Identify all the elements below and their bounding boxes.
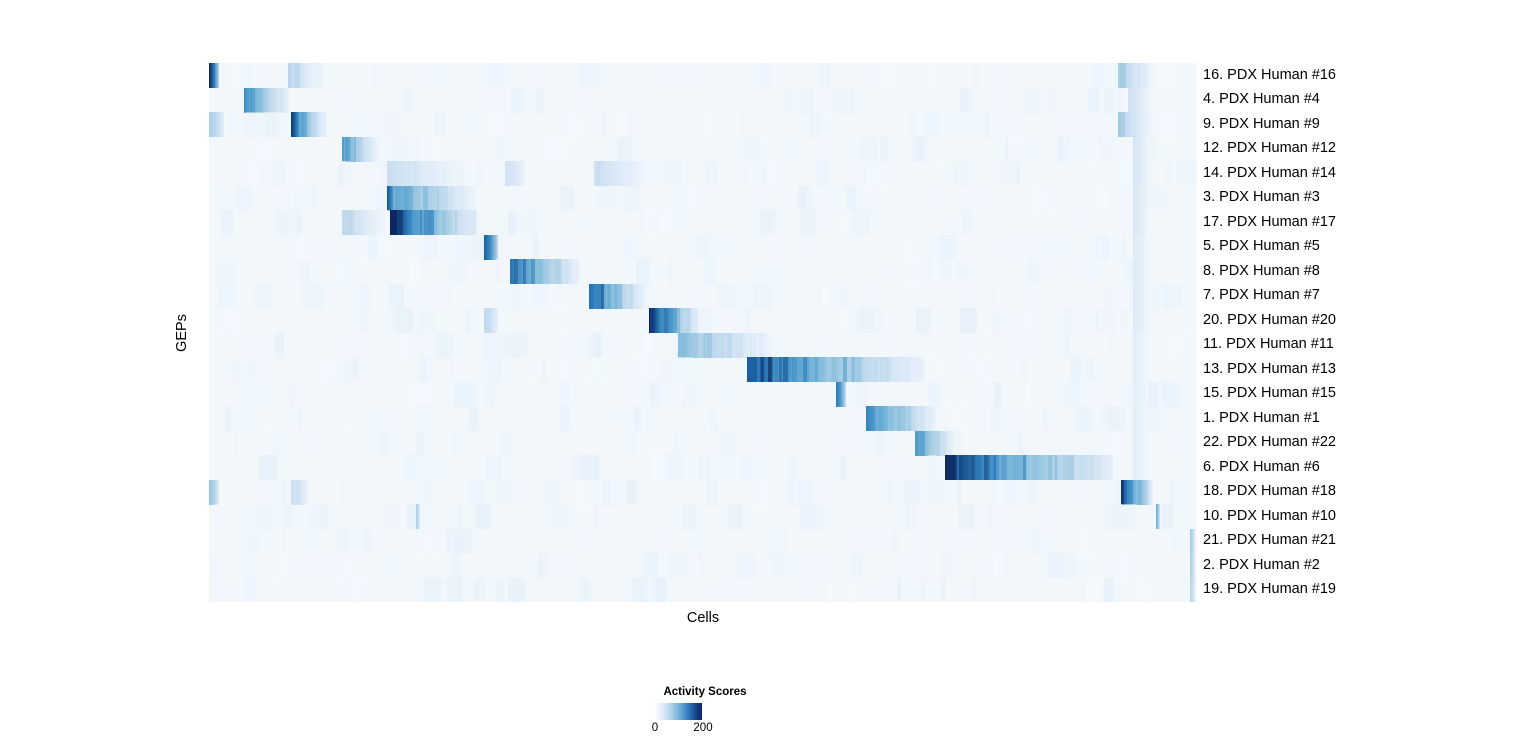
heatmap-row-label: 13. PDX Human #13 (1203, 362, 1336, 377)
heatmap-activity-block (1133, 137, 1148, 162)
heatmap-row-label: 8. PDX Human #8 (1203, 264, 1320, 279)
heatmap-column-noise (1033, 259, 1048, 284)
heatmap-column-noise (482, 357, 498, 382)
heatmap-column-noise (1026, 284, 1036, 309)
heatmap-column-noise (813, 88, 822, 113)
heatmap-column-noise (560, 186, 575, 211)
heatmap-column-noise (979, 553, 983, 578)
heatmap-activity-block (1133, 431, 1148, 456)
heatmap-column-noise (889, 455, 897, 480)
heatmap-column-noise (325, 553, 336, 578)
heatmap-column-noise (464, 382, 475, 407)
heatmap-column-noise (789, 137, 801, 162)
heatmap-column-noise (531, 63, 536, 88)
heatmap-column-noise (799, 88, 817, 113)
heatmap-column-noise (291, 210, 302, 235)
heatmap-column-noise (1010, 529, 1023, 554)
heatmap-row-label: 17. PDX Human #17 (1203, 215, 1336, 230)
heatmap-column-noise (381, 431, 387, 456)
heatmap-column-noise (596, 333, 602, 358)
heatmap-column-noise (213, 578, 224, 603)
heatmap-column-noise (1022, 88, 1040, 113)
heatmap-row-label: 12. PDX Human #12 (1203, 141, 1336, 156)
heatmap-column-noise (741, 112, 745, 137)
heatmap-activity-block (1133, 333, 1148, 358)
heatmap-column-noise (394, 431, 404, 456)
heatmap-column-noise (427, 63, 445, 88)
heatmap-column-noise (645, 553, 659, 578)
heatmap-column-noise (789, 88, 800, 113)
heatmap-column-noise (449, 553, 462, 578)
heatmap-activity-block (1133, 210, 1148, 235)
heatmap-column-noise (760, 210, 770, 235)
heatmap-column-noise (628, 112, 643, 137)
heatmap-column-noise (1120, 235, 1126, 260)
heatmap-column-noise (1065, 333, 1069, 358)
heatmap-column-noise (697, 235, 707, 260)
heatmap-column-noise (675, 161, 681, 186)
heatmap-column-noise (470, 480, 484, 505)
heatmap-column-noise (1104, 406, 1119, 431)
heatmap-column-noise (1029, 480, 1034, 505)
heatmap-column-noise (1033, 186, 1037, 211)
heatmap-column-noise (1115, 88, 1123, 113)
colorbar-tick-label: 0 (652, 722, 658, 734)
heatmap-column-noise (951, 112, 969, 137)
heatmap-column-noise (867, 161, 872, 186)
heatmap-column-noise (361, 529, 371, 554)
heatmap-column-noise (991, 406, 1002, 431)
heatmap-column-noise (221, 210, 233, 235)
heatmap-column-noise (994, 88, 1007, 113)
heatmap-row (209, 259, 1197, 284)
heatmap-column-noise (1024, 308, 1038, 333)
heatmap-column-noise (579, 63, 584, 88)
heatmap-column-noise (1173, 529, 1178, 554)
heatmap-column-noise (415, 382, 420, 407)
heatmap-column-noise (502, 88, 506, 113)
heatmap-column-noise (603, 480, 611, 505)
heatmap-column-noise (588, 333, 601, 358)
heatmap-column-noise (703, 186, 707, 211)
heatmap-row (209, 210, 1197, 235)
heatmap-column-noise (753, 284, 771, 309)
heatmap-row-label: 10. PDX Human #10 (1203, 509, 1336, 524)
heatmap-column-noise (973, 578, 977, 603)
heatmap-column-noise (771, 553, 781, 578)
heatmap-column-noise (353, 431, 356, 456)
heatmap-column-noise (216, 259, 226, 284)
heatmap-column-noise (842, 88, 855, 113)
heatmap-column-noise (1103, 406, 1110, 431)
heatmap-column-noise (694, 235, 702, 260)
heatmap-column-noise (930, 235, 941, 260)
heatmap-column-noise (1161, 504, 1173, 529)
heatmap-cell-stripe (322, 112, 327, 137)
heatmap-row-label: 7. PDX Human #7 (1203, 288, 1320, 303)
heatmap-column-noise (1107, 284, 1111, 309)
heatmap-column-noise (543, 553, 555, 578)
heatmap-column-noise (691, 63, 699, 88)
heatmap-activity-block (594, 161, 653, 186)
heatmap-column-noise (309, 504, 320, 529)
heatmap-column-noise (635, 357, 650, 382)
heatmap-row-label: 9. PDX Human #9 (1203, 117, 1320, 132)
heatmap-column-noise (264, 357, 277, 382)
heatmap-column-noise (1026, 88, 1041, 113)
heatmap-column-noise (590, 357, 601, 382)
heatmap-column-noise (476, 504, 491, 529)
heatmap-column-noise (354, 357, 359, 382)
heatmap-activity-block (945, 455, 1113, 480)
heatmap-column-noise (1094, 186, 1109, 211)
heatmap-column-noise (828, 578, 834, 603)
heatmap-column-noise (1018, 333, 1030, 358)
heatmap-column-noise (424, 504, 436, 529)
heatmap-column-noise (834, 210, 841, 235)
colorbar-tick-label: 200 (693, 722, 712, 734)
heatmap-activity-block (1133, 382, 1148, 407)
heatmap-column-noise (905, 480, 919, 505)
heatmap-column-noise (1070, 357, 1082, 382)
heatmap-column-noise (261, 112, 276, 137)
heatmap-column-noise (807, 186, 824, 211)
heatmap-column-noise (375, 406, 384, 431)
heatmap-column-noise (732, 284, 747, 309)
heatmap-column-noise (1177, 161, 1194, 186)
heatmap-column-noise (215, 578, 219, 603)
heatmap-activity-block (1190, 578, 1195, 603)
heatmap-column-noise (568, 235, 581, 260)
heatmap-column-noise (450, 357, 456, 382)
heatmap-column-noise (225, 406, 231, 431)
heatmap-column-noise (809, 112, 821, 137)
heatmap-column-noise (223, 308, 234, 333)
heatmap-column-noise (278, 333, 292, 358)
heatmap-row-label: 15. PDX Human #15 (1203, 386, 1336, 401)
heatmap-column-noise (811, 553, 829, 578)
heatmap-column-noise (508, 210, 517, 235)
heatmap-row (209, 504, 1197, 529)
heatmap-activity-block (342, 137, 377, 162)
heatmap-column-noise (313, 504, 327, 529)
heatmap-column-noise (427, 333, 436, 358)
heatmap-column-noise (211, 553, 221, 578)
heatmap-column-noise (1098, 63, 1114, 88)
heatmap-column-noise (1064, 308, 1072, 333)
heatmap-column-noise (940, 137, 943, 162)
heatmap-column-noise (800, 210, 816, 235)
heatmap-column-noise (1169, 480, 1184, 505)
heatmap-column-noise (677, 186, 684, 211)
heatmap-column-noise (694, 529, 700, 554)
heatmap-column-noise (1164, 284, 1169, 309)
heatmap-column-noise (1003, 553, 1009, 578)
heatmap-column-noise (988, 504, 992, 529)
heatmap-column-noise (704, 112, 718, 137)
heatmap-column-noise (624, 235, 633, 260)
heatmap-column-noise (706, 480, 718, 505)
heatmap-column-noise (992, 308, 999, 333)
heatmap-column-noise (829, 186, 838, 211)
heatmap-column-noise (637, 578, 649, 603)
heatmap-column-noise (1010, 112, 1022, 137)
heatmap-column-noise (351, 235, 354, 260)
heatmap-column-noise (561, 357, 568, 382)
heatmap-column-noise (515, 480, 522, 505)
heatmap-column-noise (562, 112, 577, 137)
heatmap-column-noise (816, 161, 829, 186)
heatmap-column-noise (843, 578, 857, 603)
heatmap-column-noise (406, 455, 415, 480)
heatmap-column-noise (544, 137, 549, 162)
heatmap-column-noise (514, 88, 525, 113)
heatmap-column-noise (604, 480, 616, 505)
heatmap-activity-block (484, 308, 499, 333)
heatmap-column-noise (245, 529, 261, 554)
heatmap-column-noise (545, 480, 558, 505)
heatmap-column-noise (263, 480, 272, 505)
heatmap-column-noise (937, 529, 947, 554)
heatmap-row-label: 22. PDX Human #22 (1203, 435, 1336, 450)
heatmap-activity-block (416, 504, 420, 529)
heatmap-column-noise (243, 161, 259, 186)
heatmap-column-noise (781, 553, 797, 578)
heatmap-row-label: 1. PDX Human #1 (1203, 411, 1320, 426)
heatmap-column-noise (817, 137, 825, 162)
heatmap-column-noise (666, 63, 681, 88)
heatmap-column-noise (344, 578, 362, 603)
heatmap-column-noise (255, 161, 267, 186)
heatmap-column-noise (1085, 578, 1101, 603)
heatmap-activity-block (1133, 235, 1148, 260)
heatmap-column-noise (224, 308, 233, 333)
heatmap-column-noise (759, 455, 765, 480)
heatmap-activity-block (1133, 259, 1148, 284)
heatmap-column-noise (669, 553, 675, 578)
heatmap-column-noise (811, 186, 821, 211)
heatmap-row-label: 3. PDX Human #3 (1203, 190, 1320, 205)
heatmap-activity-block (209, 63, 219, 88)
heatmap-row-label: 16. PDX Human #16 (1203, 68, 1336, 83)
heatmap-activity-block (1133, 406, 1148, 431)
heatmap-column-noise (259, 455, 277, 480)
heatmap-column-noise (288, 186, 292, 211)
heatmap-column-noise (773, 161, 784, 186)
heatmap-column-noise (298, 406, 301, 431)
heatmap-column-noise (307, 284, 324, 309)
heatmap-column-noise (302, 284, 319, 309)
heatmap-column-noise (752, 455, 767, 480)
heatmap-column-noise (704, 259, 715, 284)
heatmap-column-noise (905, 553, 918, 578)
heatmap-column-noise (416, 431, 429, 456)
heatmap-row-labels: 16. PDX Human #164. PDX Human #49. PDX H… (1203, 63, 1523, 602)
heatmap-column-noise (698, 455, 712, 480)
heatmap-activity-block (866, 406, 935, 431)
heatmap-figure: GEPs Cells 16. PDX Human #164. PDX Human… (0, 0, 1540, 743)
heatmap-column-noise (627, 480, 636, 505)
heatmap-column-noise (541, 357, 546, 382)
heatmap-activity-block (342, 210, 386, 235)
heatmap-column-noise (815, 333, 822, 358)
heatmap-column-noise (1028, 259, 1036, 284)
heatmap-column-noise (1105, 88, 1114, 113)
heatmap-column-noise (538, 553, 547, 578)
heatmap-row-label: 19. PDX Human #19 (1203, 582, 1336, 597)
heatmap-column-noise (677, 357, 693, 382)
heatmap-column-noise (1005, 504, 1009, 529)
heatmap-column-noise (991, 529, 1008, 554)
heatmap-column-noise (487, 63, 505, 88)
heatmap-column-noise (229, 112, 239, 137)
heatmap-cell-stripe (377, 137, 381, 162)
heatmap-column-noise (338, 553, 355, 578)
heatmap-column-noise (1069, 480, 1074, 505)
heatmap-column-noise (1086, 259, 1103, 284)
heatmap-column-noise (844, 137, 862, 162)
heatmap-column-noise (394, 553, 412, 578)
heatmap-column-noise (551, 137, 561, 162)
heatmap-column-noise (1075, 308, 1092, 333)
heatmap-plot-area (209, 63, 1197, 602)
heatmap-column-noise (858, 308, 874, 333)
heatmap-column-noise (691, 112, 694, 137)
heatmap-column-noise (283, 210, 299, 235)
heatmap-column-noise (856, 382, 866, 407)
heatmap-activity-block (649, 308, 698, 333)
heatmap-column-noise (266, 431, 272, 456)
heatmap-column-noise (1107, 235, 1123, 260)
heatmap-column-noise (634, 406, 641, 431)
heatmap-column-noise (1162, 382, 1179, 407)
heatmap-column-noise (383, 112, 398, 137)
heatmap-column-noise (651, 455, 666, 480)
heatmap-column-noise (583, 63, 601, 88)
heatmap-column-noise (616, 406, 622, 431)
heatmap-column-noise (420, 357, 434, 382)
heatmap-column-noise (657, 137, 660, 162)
colorbar-tick-mark (702, 703, 704, 720)
heatmap-column-noise (447, 284, 451, 309)
heatmap-activity-block (915, 431, 955, 456)
heatmap-column-noise (1164, 284, 1168, 309)
heatmap-column-noise (1078, 210, 1081, 235)
heatmap-column-noise (333, 63, 337, 88)
heatmap-column-noise (760, 308, 764, 333)
heatmap-column-noise (929, 382, 939, 407)
heatmap-column-noise (638, 210, 651, 235)
heatmap-column-noise (916, 88, 919, 113)
heatmap-column-noise (1119, 406, 1125, 431)
heatmap-column-noise (719, 308, 726, 333)
heatmap-column-noise (792, 455, 798, 480)
heatmap-column-noise (868, 284, 879, 309)
heatmap-column-noise (879, 63, 895, 88)
heatmap-column-noise (807, 553, 810, 578)
heatmap-column-noise (987, 382, 1000, 407)
heatmap-column-noise (582, 455, 599, 480)
heatmap-column-noise (1109, 333, 1113, 358)
heatmap-column-noise (495, 480, 510, 505)
heatmap-column-noise (511, 88, 523, 113)
heatmap-column-noise (1173, 529, 1184, 554)
heatmap-column-noise (451, 431, 458, 456)
heatmap-column-noise (419, 529, 437, 554)
heatmap-column-noise (754, 480, 772, 505)
heatmap-column-noise (671, 553, 687, 578)
heatmap-column-noise (513, 333, 528, 358)
heatmap-column-noise (293, 186, 298, 211)
heatmap-column-noise (1150, 186, 1165, 211)
heatmap-column-noise (338, 88, 354, 113)
heatmap-column-noise (337, 259, 344, 284)
heatmap-column-noise (762, 259, 776, 284)
heatmap-column-noise (234, 578, 239, 603)
heatmap-column-noise (715, 578, 730, 603)
heatmap-column-noise (736, 553, 745, 578)
heatmap-column-noise (846, 186, 856, 211)
heatmap-row-label: 5. PDX Human #5 (1203, 239, 1320, 254)
heatmap-column-noise (929, 455, 936, 480)
heatmap-column-noise (581, 529, 591, 554)
heatmap-column-noise (394, 137, 407, 162)
heatmap-column-noise (289, 382, 303, 407)
heatmap-column-noise (938, 235, 956, 260)
heatmap-column-noise (727, 455, 734, 480)
heatmap-column-noise (922, 63, 938, 88)
heatmap-column-noise (374, 63, 378, 88)
heatmap-column-noise (328, 259, 337, 284)
heatmap-column-noise (525, 333, 528, 358)
heatmap-column-noise (464, 308, 477, 333)
heatmap-column-noise (894, 308, 897, 333)
heatmap-column-noise (469, 112, 481, 137)
heatmap-column-noise (1007, 406, 1025, 431)
heatmap-column-noise (940, 553, 953, 578)
heatmap-column-noise (362, 480, 376, 505)
heatmap-column-noise (532, 284, 548, 309)
heatmap-column-noise (792, 88, 808, 113)
heatmap-column-noise (776, 235, 786, 260)
heatmap-column-noise (551, 504, 567, 529)
heatmap-column-noise (291, 161, 304, 186)
heatmap-column-noise (525, 455, 529, 480)
heatmap-column-noise (500, 431, 510, 456)
heatmap-column-noise (794, 88, 811, 113)
heatmap-column-noise (780, 88, 784, 113)
heatmap-column-noise (1051, 88, 1055, 113)
heatmap-column-noise (683, 504, 696, 529)
heatmap-row-label: 11. PDX Human #11 (1203, 337, 1334, 352)
heatmap-column-noise (896, 553, 900, 578)
heatmap-column-noise (1059, 553, 1076, 578)
heatmap-column-noise (261, 455, 274, 480)
heatmap-column-noise (745, 308, 753, 333)
heatmap-column-noise (343, 161, 351, 186)
heatmap-column-noise (1088, 88, 1099, 113)
heatmap-column-noise (787, 455, 793, 480)
heatmap-column-noise (495, 112, 504, 137)
heatmap-column-noise (960, 308, 977, 333)
heatmap-activity-block (484, 235, 499, 260)
heatmap-column-noise (1165, 480, 1173, 505)
heatmap-column-noise (1119, 504, 1136, 529)
heatmap-column-noise (1070, 357, 1076, 382)
heatmap-column-noise (514, 578, 520, 603)
heatmap-column-noise (265, 112, 283, 137)
heatmap-column-noise (514, 284, 521, 309)
